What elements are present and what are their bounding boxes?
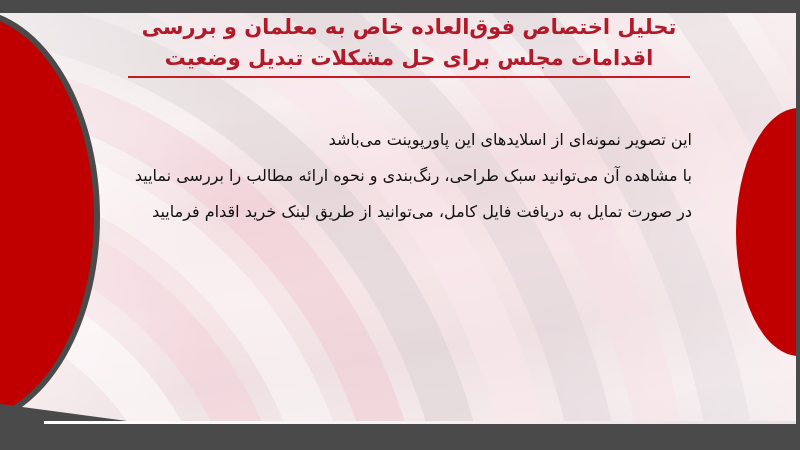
slide-title-line-2: اقدامات مجلس برای حل مشکلات تبدیل وضعیت <box>120 43 698 74</box>
title-underline-rule <box>128 76 690 78</box>
slide-body-text: این تصویر نمونه‌ای از اسلایدهای این پاور… <box>76 122 692 230</box>
right-frame-edge <box>796 0 800 450</box>
bottom-frame-band <box>0 424 800 450</box>
slide-title: تحلیل اختصاص فوق‌العاده خاص به معلمان و … <box>120 12 698 74</box>
slide-title-line-1: تحلیل اختصاص فوق‌العاده خاص به معلمان و … <box>120 12 698 43</box>
body-line-2: با مشاهده آن می‌توانید سبک طراحی، رنگ‌بن… <box>76 158 692 194</box>
body-line-3: در صورت تمایل به دریافت فایل کامل، می‌تو… <box>76 194 692 230</box>
presentation-slide: تحلیل اختصاص فوق‌العاده خاص به معلمان و … <box>0 0 800 450</box>
body-line-1: این تصویر نمونه‌ای از اسلایدهای این پاور… <box>76 122 692 158</box>
bottom-frame-highlight <box>44 421 800 424</box>
